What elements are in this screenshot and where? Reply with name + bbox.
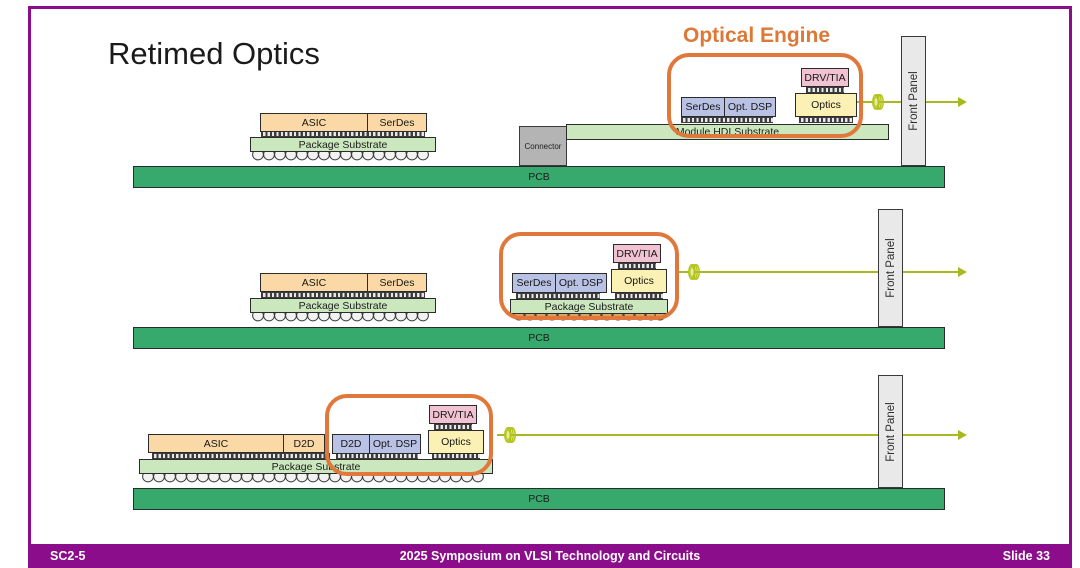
signal-arrow-icon-row3 xyxy=(958,430,967,440)
optical-engine-highlight-row3 xyxy=(325,394,493,476)
fiber-coil-icon-row3 xyxy=(496,423,520,447)
serdes-die-row1: SerDes xyxy=(367,113,427,132)
signal-arrow-icon-row1 xyxy=(958,97,967,107)
serdes-die-row2: SerDes xyxy=(367,273,427,292)
package-substrate-label-row1: Package Substrate xyxy=(299,139,388,151)
front-panel-row1: Front Panel xyxy=(901,36,926,166)
pcb-label-row3: PCB xyxy=(528,493,550,505)
asic-die-row2: ASIC xyxy=(260,273,368,292)
fiber-coil-icon-row2 xyxy=(680,260,704,284)
microbumps-asic-row3 xyxy=(152,453,330,459)
d2d-die-host-row3: D2D xyxy=(283,434,325,453)
front-panel-row3: Front Panel xyxy=(878,375,903,488)
optical-engine-highlight-row2 xyxy=(499,232,679,320)
pcb-label-row2: PCB xyxy=(528,332,550,344)
pcb-label-row1: PCB xyxy=(528,171,550,183)
signal-arrow-icon-row2 xyxy=(958,267,967,277)
package-substrate-host-row1: Package Substrate xyxy=(250,137,436,152)
footer-conference: 2025 Symposium on VLSI Technology and Ci… xyxy=(28,549,1072,563)
footer-slide-number: Slide 33 xyxy=(1003,549,1050,563)
connector-row1: Connector xyxy=(519,126,567,166)
fiber-link-row2 xyxy=(678,271,965,273)
optical-engine-callout-label: Optical Engine xyxy=(683,24,830,48)
page-title: Retimed Optics xyxy=(108,36,320,72)
front-panel-row2: Front Panel xyxy=(878,209,903,327)
pcb-row3: PCB xyxy=(133,488,945,510)
optical-engine-highlight-row1 xyxy=(667,53,863,138)
slide-footer: SC2-5 2025 Symposium on VLSI Technology … xyxy=(28,544,1072,568)
asic-die-row1: ASIC xyxy=(260,113,368,132)
slide-canvas: Retimed Optics Optical Engine PCB xyxy=(0,0,1080,568)
fiber-coil-icon-row1 xyxy=(864,90,888,114)
microbumps-host-row2 xyxy=(261,292,425,298)
pcb-row1: PCB xyxy=(133,166,945,188)
package-substrate-label-row2: Package Substrate xyxy=(299,300,388,312)
pcb-row2: PCB xyxy=(133,327,945,349)
package-substrate-host-row2: Package Substrate xyxy=(250,298,436,313)
asic-die-row3: ASIC xyxy=(148,434,284,453)
